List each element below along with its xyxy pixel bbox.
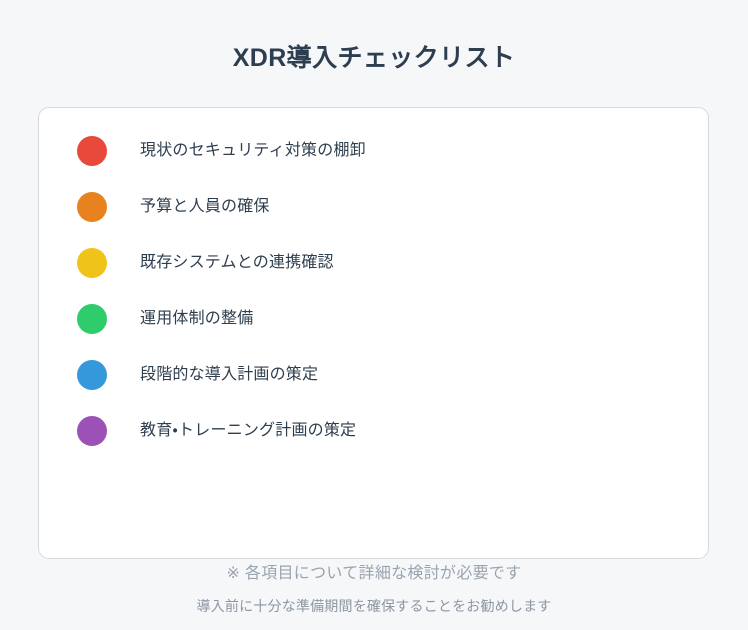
checklist-page: XDR導入チェックリスト 現状のセキュリティ対策の棚卸 予算と人員の確保 既存シ… [0,0,748,630]
list-item[interactable]: 現状のセキュリティ対策の棚卸 [77,136,688,166]
footnote-primary: ※ 各項目について詳細な検討が必要です [0,562,748,586]
list-item-label: 既存システムとの連携確認 [140,252,334,274]
bullet-dot-icon [77,136,107,166]
footnotes: ※ 各項目について詳細な検討が必要です 導入前に十分な準備期間を確保することをお… [0,562,748,617]
list-item[interactable]: 既存システムとの連携確認 [77,248,688,278]
list-item[interactable]: 段階的な導入計画の策定 [77,360,688,390]
list-item[interactable]: 運用体制の整備 [77,304,688,334]
footnote-secondary: 導入前に十分な準備期間を確保することをお勧めします [0,595,748,617]
list-item-label: 現状のセキュリティ対策の棚卸 [140,140,366,162]
list-item-label: 予算と人員の確保 [140,196,270,218]
list-item[interactable]: 予算と人員の確保 [77,192,688,222]
list-item-label: 段階的な導入計画の策定 [140,364,318,386]
checklist-card: 現状のセキュリティ対策の棚卸 予算と人員の確保 既存システムとの連携確認 運用体… [38,107,709,559]
bullet-dot-icon [77,304,107,334]
bullet-dot-icon [77,360,107,390]
bullet-dot-icon [77,248,107,278]
bullet-dot-icon [77,192,107,222]
checklist: 現状のセキュリティ対策の棚卸 予算と人員の確保 既存システムとの連携確認 運用体… [77,136,688,446]
list-item-label: 運用体制の整備 [140,308,253,330]
page-title: XDR導入チェックリスト [0,41,748,75]
bullet-dot-icon [77,416,107,446]
list-item-label: 教育・トレーニング計画の策定 [140,420,356,442]
list-item[interactable]: 教育・トレーニング計画の策定 [77,416,688,446]
